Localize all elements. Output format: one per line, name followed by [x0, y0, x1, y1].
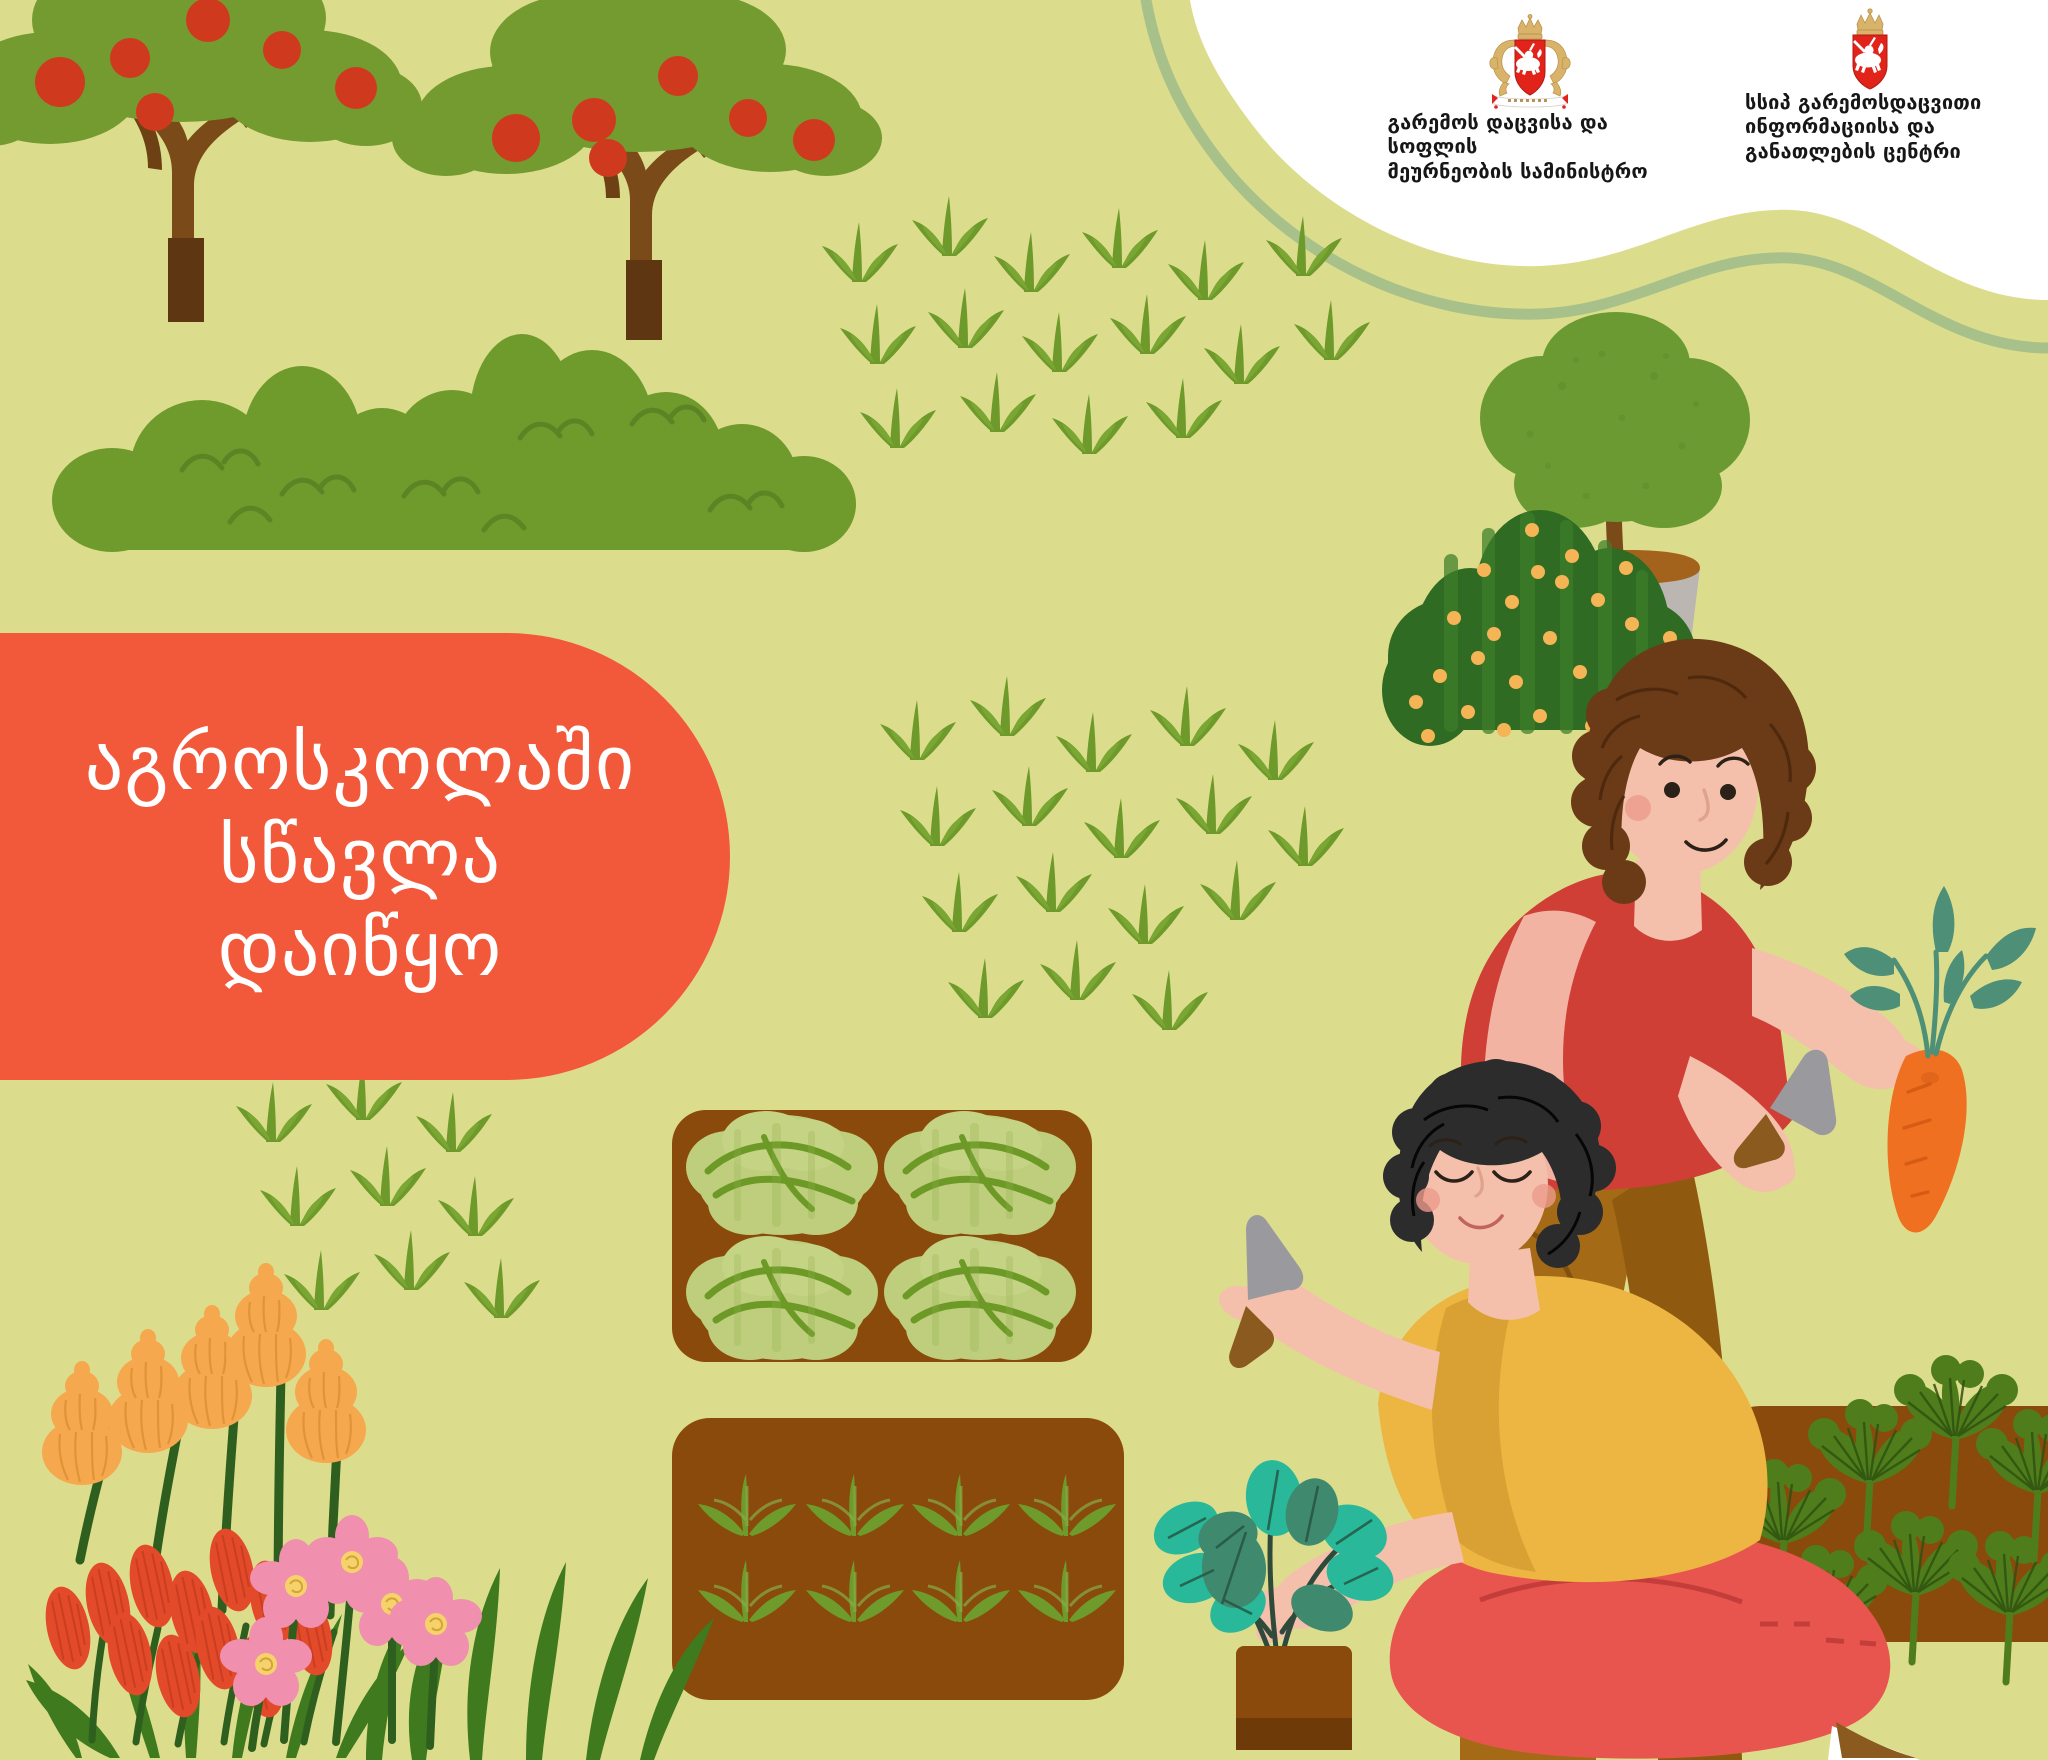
bed-soil	[672, 1418, 1124, 1700]
logo-ministry: გარემოს დაცვისა და სოფლის მეურნეობის სამ…	[1385, 14, 1675, 183]
georgia-greater-coat-of-arms-icon	[1484, 14, 1576, 110]
logo-ministry-label: გარემოს დაცვისა და სოფლის მეურნეობის სამ…	[1388, 110, 1673, 183]
seedling-bed	[672, 1418, 1124, 1700]
logo-center: სსიპ გარემოსდაცვითი ინფორმაციისა და განა…	[1745, 8, 1995, 163]
page-title: აგროსკოლაში სწავლა დაიწყო	[85, 717, 635, 995]
georgia-lesser-coat-of-arms-icon	[1839, 8, 1901, 90]
title-banner: აგროსკოლაში სწავლა დაიწყო	[0, 633, 730, 1080]
poster-canvas: გარემოს დაცვისა და სოფლის მეურნეობის სამ…	[0, 0, 2048, 1760]
logo-center-label: სსიპ გარემოსდაცვითი ინფორმაციისა და განა…	[1745, 90, 1995, 163]
cabbage-bed	[672, 1110, 1092, 1362]
